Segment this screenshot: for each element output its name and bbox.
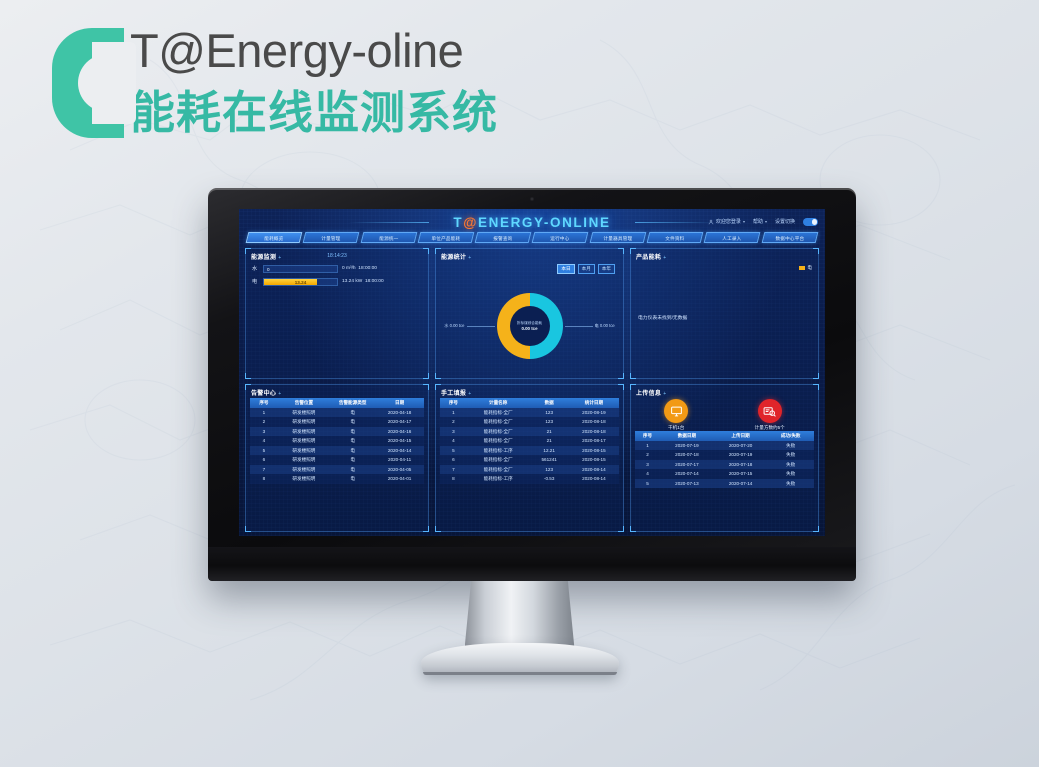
upload-cell: 2020-07-18 <box>714 460 768 470</box>
upload-stat-machines[interactable]: 干机1台 <box>664 399 688 431</box>
manual-cell: 5 <box>440 446 467 456</box>
at-symbol-icon: @ <box>463 215 478 230</box>
alarm-cell: 研发楼照明 <box>278 408 330 418</box>
nav-item-4[interactable]: 报警查询 <box>475 232 532 243</box>
energy-monitor-time: 18:14:23 <box>246 253 428 259</box>
manual-entry-title-text: 手工填报 <box>441 391 466 397</box>
product-energy-legend: 电 <box>799 265 812 271</box>
energy-row-water-reading: 0 m³/h 18:00:00 <box>342 266 422 271</box>
upload-cell: 1 <box>635 441 660 451</box>
upload-cell: 2020-07-14 <box>660 469 714 479</box>
table-row[interactable]: 2研发楼照明电2020-04-17 <box>250 417 424 427</box>
alarm-cell: 4 <box>250 436 278 446</box>
manual-cell: 21 <box>529 427 568 437</box>
table-row[interactable]: 7能耗指标-全厂1232020-08-14 <box>440 465 619 475</box>
brand-title: T@Energy-oline <box>130 24 498 78</box>
table-row[interactable]: 2能耗指标-全厂1232020-08-18 <box>440 417 619 427</box>
alarm-cell: 2020-04-11 <box>375 455 424 465</box>
manual-cell: 能耗指标-工序 <box>467 474 530 484</box>
energy-row-water-value: 0 <box>267 266 270 274</box>
manual-cell: 能耗指标-全厂 <box>467 408 530 418</box>
theme-toggle[interactable] <box>803 218 818 226</box>
alarm-cell: 2020-04-17 <box>375 417 424 427</box>
water-timestamp: 18:00:00 <box>358 266 377 271</box>
alarm-cell: 电 <box>330 436 375 446</box>
period-tab-1[interactable]: 本月 <box>578 264 595 274</box>
product-energy-title-text: 产品能耗 <box>636 255 661 261</box>
alarm-cell: 研发楼照明 <box>278 436 330 446</box>
upload-stat-meters[interactable]: 计量方数约5个 <box>755 399 785 431</box>
upload-col-3: 成功/失败 <box>767 431 814 441</box>
nav-item-0[interactable]: 能耗概览 <box>246 232 303 243</box>
alarm-cell: 电 <box>330 446 375 456</box>
alarm-cell: 2020-04-14 <box>375 446 424 456</box>
upload-cell: 5 <box>635 479 660 489</box>
period-tab-0[interactable]: 本日 <box>557 264 574 274</box>
expand-plus-icon-3[interactable]: + <box>663 255 666 261</box>
upload-info-title-text: 上传信息 <box>636 391 661 397</box>
nav-label-8: 人工录入 <box>706 233 758 243</box>
alarm-table: 序号 告警位置 告警能源类型 日期 1研发楼照明电2020-04-18 2研发楼… <box>250 398 424 528</box>
alarm-cell: 研发楼照明 <box>278 417 330 427</box>
manual-cell: 6 <box>440 455 467 465</box>
manual-col-3: 统计日期 <box>569 398 619 408</box>
table-row[interactable]: 6研发楼照明电2020-04-11 <box>250 455 424 465</box>
alarm-center-title-text: 告警中心 <box>251 391 276 397</box>
energy-row-electric-reading: 13.24 kW 18:00:00 <box>342 279 422 284</box>
alarm-cell: 电 <box>330 465 375 475</box>
brand-subtitle: 能耗在线监测系统 <box>130 76 498 141</box>
dashboard-title-rest: ENERGY-ONLINE <box>478 215 611 230</box>
nav-item-6[interactable]: 计量器具管理 <box>589 232 646 243</box>
alarm-col-2: 告警能源类型 <box>330 398 375 408</box>
panel-product-energy: 产品能耗+ 电 电力仪表未找到/无数据 <box>630 248 819 379</box>
alarm-table-header: 序号 告警位置 告警能源类型 日期 <box>250 398 424 408</box>
table-row[interactable]: 8研发楼照明电2020-04-01 <box>250 474 424 484</box>
nav-label-2: 能源统一 <box>362 233 414 243</box>
electric-reading: 13.24 kW <box>342 279 362 284</box>
alarm-cell: 电 <box>330 427 375 437</box>
nav-label-9: 数据中心平台 <box>763 233 815 243</box>
settings-label: 设置切换 <box>775 218 795 225</box>
upload-cell: 2020-07-13 <box>660 479 714 489</box>
manual-cell: -0.53 <box>529 474 568 484</box>
table-row[interactable]: 3研发楼照明电2020-04-16 <box>250 427 424 437</box>
energy-row-water: 水 0 0 m³/h 18:00:00 <box>252 264 422 273</box>
upload-cell: 2020-07-15 <box>714 469 768 479</box>
table-row[interactable]: 1能耗指标-全厂1232020-08-19 <box>440 408 619 418</box>
manual-cell: 能耗指标-工序 <box>467 446 530 456</box>
nav-item-8[interactable]: 人工录入 <box>704 232 761 243</box>
product-energy-note: 电力仪表未找到/无数据 <box>638 314 687 321</box>
alarm-cell: 2 <box>250 417 278 427</box>
manual-cell: 561241 <box>529 455 568 465</box>
nav-label-3: 单位产品能耗 <box>420 233 472 243</box>
monitor-screen: T@ENERGY-ONLINE 欢迎您登录 ▾ 帮助 ▾ 设置切换 能耗概览 <box>239 209 825 536</box>
user-icon <box>708 219 714 225</box>
manual-cell: 能耗指标-全厂 <box>467 436 530 446</box>
manual-cell: 2020-08-14 <box>569 474 619 484</box>
manual-cell: 12.21 <box>529 446 568 456</box>
table-row[interactable]: 5研发楼照明电2020-04-14 <box>250 446 424 456</box>
monitor-mockup: T@ENERGY-ONLINE 欢迎您登录 ▾ 帮助 ▾ 设置切换 能耗概览 <box>208 188 856 581</box>
donut-label-water: 水 0.00 tce <box>444 323 464 329</box>
alarm-col-3: 日期 <box>375 398 424 408</box>
c-mark-logo-icon <box>52 28 124 138</box>
settings-menu[interactable]: 设置切换 <box>775 218 795 225</box>
panel-upload-info: 上传信息+ 干机1台 <box>630 384 819 532</box>
energy-row-electric: 电 13.24 13.24 kW 18:00:00 <box>252 277 422 286</box>
nav-label-6: 计量器具管理 <box>592 233 644 243</box>
alarm-cell: 2020-04-16 <box>375 427 424 437</box>
table-row[interactable]: 7研发楼照明电2020-04-05 <box>250 465 424 475</box>
nav-item-9[interactable]: 数据中心平台 <box>761 232 818 243</box>
table-row[interactable]: 42020-07-142020-07-15失败 <box>635 469 814 479</box>
energy-row-electric-label: 电 <box>252 278 259 285</box>
main-nav: 能耗概览 计量管理 能源统一 单位产品能耗 报警查询 运行中心 计量器具管理 文… <box>247 232 817 243</box>
manual-cell: 8 <box>440 474 467 484</box>
product-energy-title: 产品能耗+ <box>636 252 666 261</box>
alarm-cell: 3 <box>250 427 278 437</box>
upload-cell: 2 <box>635 450 660 460</box>
energy-row-electric-value: 13.24 <box>295 279 307 287</box>
webcam-dot-icon <box>530 197 534 201</box>
chevron-down-icon: ▾ <box>743 219 745 224</box>
legend-label-electric: 电 <box>807 265 812 271</box>
table-row[interactable]: 52020-07-132020-07-14失败 <box>635 479 814 489</box>
manual-cell: 2020-08-17 <box>569 436 619 446</box>
alarm-cell: 5 <box>250 446 278 456</box>
nav-label-1: 计量管理 <box>305 233 357 243</box>
alarm-center-title: 告警中心+ <box>251 388 281 397</box>
table-row[interactable]: 8能耗指标-工序-0.532020-08-14 <box>440 474 619 484</box>
alarm-cell: 6 <box>250 455 278 465</box>
manual-cell: 能耗指标-全厂 <box>467 417 530 427</box>
monitor-stand-base <box>421 643 619 675</box>
monitor-chin <box>208 547 856 581</box>
manual-cell: 2020-08-15 <box>569 446 619 456</box>
alarm-cell: 电 <box>330 455 375 465</box>
manual-cell: 2020-08-18 <box>569 427 619 437</box>
manual-entry-table-header: 序号 计量名称 数据 统计日期 <box>440 398 619 408</box>
legend-swatch-electric <box>799 266 805 270</box>
computer-monitor-icon <box>664 399 688 423</box>
upload-info-title: 上传信息+ <box>636 388 666 397</box>
table-row[interactable]: 3能耗指标-全厂212020-08-18 <box>440 427 619 437</box>
upload-status: 失败 <box>767 479 814 489</box>
table-row[interactable]: 22020-07-182020-07-19失败 <box>635 450 814 460</box>
manual-cell: 4 <box>440 436 467 446</box>
manual-entry-title: 手工填报+ <box>441 388 471 397</box>
alarm-cell: 研发楼照明 <box>278 465 330 475</box>
expand-plus-icon-4[interactable]: + <box>278 391 281 397</box>
manual-cell: 2020-08-14 <box>569 465 619 475</box>
table-row[interactable]: 12020-07-192020-07-20失败 <box>635 441 814 451</box>
alarm-cell: 研发楼照明 <box>278 455 330 465</box>
alarm-table-body: 1研发楼照明电2020-04-18 2研发楼照明电2020-04-17 3研发楼… <box>250 408 424 484</box>
alarm-col-1: 告警位置 <box>278 398 330 408</box>
manual-cell: 能耗指标-全厂 <box>467 455 530 465</box>
nav-label-7: 文件资料 <box>649 233 701 243</box>
alarm-cell: 8 <box>250 474 278 484</box>
donut-center-value: 0.00 tce <box>521 326 537 331</box>
manual-cell: 123 <box>529 417 568 427</box>
panel-energy-monitor: 能源监测+ 18:14:23 水 0 0 m³/h 18:00:00 电 13.… <box>245 248 429 379</box>
donut-leader-right <box>565 326 593 327</box>
alarm-cell: 2020-04-01 <box>375 474 424 484</box>
manual-cell: 123 <box>529 465 568 475</box>
manual-col-0: 序号 <box>440 398 467 408</box>
upload-table: 序号 数据日期 上传日期 成功/失败 12020-07-192020-07-20… <box>635 431 814 528</box>
manual-cell: 2 <box>440 417 467 427</box>
energy-donut-chart: 折标煤综合能耗 0.00 tce 水 0.00 tce 电 0.00 tce <box>436 279 623 372</box>
upload-col-2: 上传日期 <box>714 431 768 441</box>
alarm-cell: 7 <box>250 465 278 475</box>
energy-row-electric-bar: 13.24 <box>263 278 338 286</box>
manual-cell: 能耗指标-全厂 <box>467 427 530 437</box>
table-row[interactable]: 6能耗指标-全厂5612412020-08-15 <box>440 455 619 465</box>
upload-cell: 2020-07-19 <box>714 450 768 460</box>
upload-table-header: 序号 数据日期 上传日期 成功/失败 <box>635 431 814 441</box>
nav-label-5: 运行中心 <box>534 233 586 243</box>
expand-plus-icon-2[interactable]: + <box>468 255 471 261</box>
upload-status: 失败 <box>767 469 814 479</box>
nav-item-2[interactable]: 能源统一 <box>360 232 417 243</box>
manual-col-1: 计量名称 <box>467 398 530 408</box>
manual-entry-table: 序号 计量名称 数据 统计日期 1能耗指标-全厂1232020-08-19 2能… <box>440 398 619 528</box>
table-row[interactable]: 1研发楼照明电2020-04-18 <box>250 408 424 418</box>
upload-cell: 2020-07-17 <box>660 460 714 470</box>
upload-cell: 4 <box>635 469 660 479</box>
expand-plus-icon-5[interactable]: + <box>468 391 471 397</box>
upload-cell: 2020-07-19 <box>660 441 714 451</box>
manual-entry-table-body: 1能耗指标-全厂1232020-08-19 2能耗指标-全厂1232020-08… <box>440 408 619 484</box>
donut-center-label: 折标煤综合能耗 0.00 tce <box>497 293 563 359</box>
upload-status: 失败 <box>767 450 814 460</box>
alarm-cell: 2020-04-05 <box>375 465 424 475</box>
nav-label-4: 报警查询 <box>477 233 529 243</box>
donut-label-electric: 电 0.00 tce <box>595 323 615 329</box>
upload-col-1: 数据日期 <box>660 431 714 441</box>
alarm-cell: 2020-04-15 <box>375 436 424 446</box>
manual-cell: 能耗指标-全厂 <box>467 465 530 475</box>
donut-leader-left <box>467 326 495 327</box>
chevron-down-icon-2: ▾ <box>765 219 767 224</box>
manual-cell: 7 <box>440 465 467 475</box>
header-controls: 欢迎您登录 ▾ 帮助 ▾ 设置切换 <box>708 218 818 226</box>
period-tab-2[interactable]: 本年 <box>598 264 615 274</box>
upload-info-stat-icons: 干机1台 计量方数约5个 <box>631 399 818 431</box>
energy-row-water-label: 水 <box>252 265 259 272</box>
alarm-cell: 2020-04-18 <box>375 408 424 418</box>
upload-col-0: 序号 <box>635 431 660 441</box>
dashboard-title-prefix: T <box>453 215 463 230</box>
nav-item-7[interactable]: 文件资料 <box>647 232 704 243</box>
expand-plus-icon-6[interactable]: + <box>663 391 666 397</box>
manual-cell: 2020-08-18 <box>569 417 619 427</box>
water-reading: 0 m³/h <box>342 266 356 271</box>
electric-timestamp: 18:00:00 <box>365 279 384 284</box>
upload-table-body: 12020-07-192020-07-20失败 22020-07-182020-… <box>635 441 814 489</box>
donut-ring: 折标煤综合能耗 0.00 tce 水 0.00 tce 电 0.00 tce <box>497 293 563 359</box>
alarm-cell: 电 <box>330 408 375 418</box>
brand-header: T@Energy-oline 能耗在线监测系统 <box>52 24 498 141</box>
help-label: 帮助 <box>753 218 763 225</box>
alarm-cell: 研发楼照明 <box>278 427 330 437</box>
upload-cell: 2020-07-18 <box>660 450 714 460</box>
alarm-cell: 电 <box>330 474 375 484</box>
manual-cell: 1 <box>440 408 467 418</box>
manual-col-2: 数据 <box>529 398 568 408</box>
user-label: 欢迎您登录 <box>716 218 741 225</box>
alarm-cell: 1 <box>250 408 278 418</box>
manual-cell: 123 <box>529 408 568 418</box>
manual-cell: 2020-08-19 <box>569 408 619 418</box>
manual-cell: 2020-08-15 <box>569 455 619 465</box>
alarm-cell: 研发楼照明 <box>278 474 330 484</box>
energy-row-water-bar: 0 <box>263 265 338 273</box>
energy-stats-period-tabs: 本日 本月 本年 <box>557 264 615 274</box>
nav-item-3[interactable]: 单位产品能耗 <box>418 232 475 243</box>
alarm-cell: 研发楼照明 <box>278 446 330 456</box>
table-row[interactable]: 4研发楼照明电2020-04-15 <box>250 436 424 446</box>
alarm-cell: 电 <box>330 417 375 427</box>
user-menu[interactable]: 欢迎您登录 ▾ <box>708 218 745 225</box>
table-row[interactable]: 32020-07-172020-07-18失败 <box>635 460 814 470</box>
nav-label-0: 能耗概览 <box>248 233 300 243</box>
manual-cell: 3 <box>440 427 467 437</box>
upload-cell: 3 <box>635 460 660 470</box>
panel-manual-entry: 手工填报+ 序号 计量名称 数据 统计日期 1能耗指标-全厂1232020-08… <box>435 384 624 532</box>
nav-item-1[interactable]: 计量管理 <box>303 232 360 243</box>
nav-item-5[interactable]: 运行中心 <box>532 232 589 243</box>
upload-status: 失败 <box>767 441 814 451</box>
upload-cell: 2020-07-14 <box>714 479 768 489</box>
help-menu[interactable]: 帮助 ▾ <box>753 218 767 225</box>
energy-stats-title: 能源统计+ <box>441 252 471 261</box>
dashboard: T@ENERGY-ONLINE 欢迎您登录 ▾ 帮助 ▾ 设置切换 能耗概览 <box>239 209 825 536</box>
monitor-stand-neck <box>465 581 575 649</box>
upload-cell: 2020-07-20 <box>714 441 768 451</box>
alarm-col-0: 序号 <box>250 398 278 408</box>
table-row[interactable]: 4能耗指标-全厂212020-08-17 <box>440 436 619 446</box>
upload-status: 失败 <box>767 460 814 470</box>
panel-alarm-center: 告警中心+ 序号 告警位置 告警能源类型 日期 1研发楼照明电2020-04-1… <box>245 384 429 532</box>
document-search-icon <box>758 399 782 423</box>
manual-cell: 21 <box>529 436 568 446</box>
table-row[interactable]: 5能耗指标-工序12.212020-08-15 <box>440 446 619 456</box>
energy-stats-title-text: 能源统计 <box>441 255 466 261</box>
panel-energy-stats: 能源统计+ 本日 本月 本年 折标煤综合能耗 0.00 tce 水 0.00 t <box>435 248 624 379</box>
